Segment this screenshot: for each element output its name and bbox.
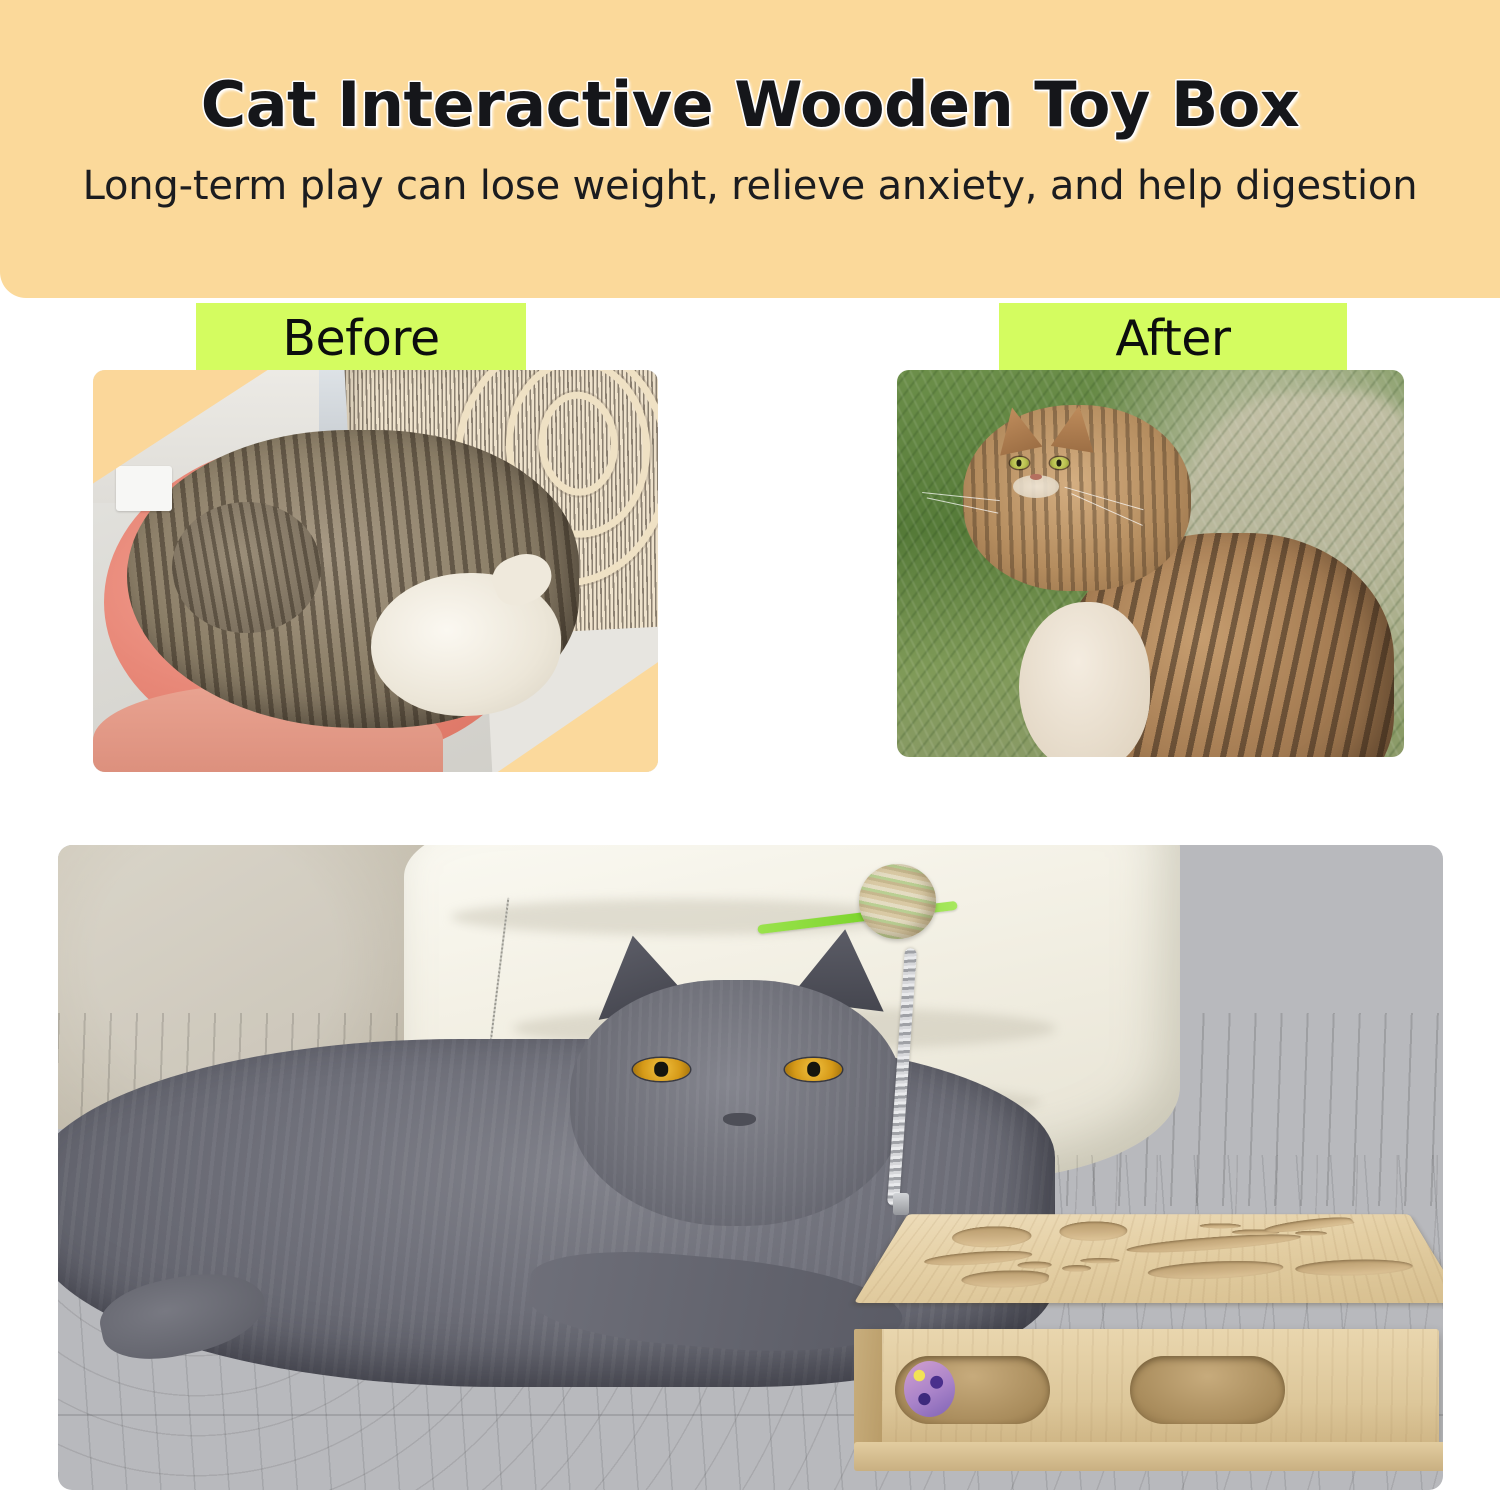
toy-box-front-panel <box>867 1329 1440 1452</box>
toy-box-front-opening <box>1130 1356 1285 1425</box>
toy-box-hole <box>1147 1259 1286 1282</box>
toy-box-side-panel <box>854 1329 881 1452</box>
toy-box-hole <box>948 1226 1035 1247</box>
grey-cat-nose <box>723 1113 756 1126</box>
header-banner: Cat Interactive Wooden Toy Box Long-term… <box>0 0 1500 298</box>
cat-head <box>172 502 321 633</box>
main-product-photo <box>58 845 1443 1490</box>
after-photo-scene <box>897 370 1404 757</box>
toy-box-base-panel <box>854 1442 1443 1471</box>
colorful-play-ball <box>904 1361 956 1417</box>
toy-box-hole <box>1062 1265 1092 1272</box>
overweight-cat-body <box>127 430 579 727</box>
grey-cat-eye-left <box>633 1058 690 1081</box>
toy-box-hole <box>922 1248 1032 1267</box>
cat-whisker <box>1065 486 1144 510</box>
toy-box-top-panel <box>854 1214 1443 1303</box>
cat-ear-right <box>1051 402 1101 453</box>
grey-cat-pupil <box>807 1062 821 1076</box>
sisal-rope-ball <box>859 864 937 938</box>
toy-box-hole <box>1017 1262 1053 1269</box>
before-photo <box>93 370 658 772</box>
cat-head <box>963 405 1191 591</box>
after-label-text: After <box>1115 310 1230 367</box>
after-label-tab: After <box>999 303 1347 373</box>
before-photo-scene <box>93 370 658 772</box>
cat-pupil <box>1057 459 1062 466</box>
toy-box-hole <box>958 1271 1050 1288</box>
grey-cat-pupil <box>654 1062 668 1076</box>
cat-eye-left <box>1010 457 1029 469</box>
before-label-tab: Before <box>196 303 526 373</box>
fabric-tag <box>116 466 173 510</box>
after-photo <box>897 370 1404 757</box>
toy-box-hole <box>1293 1258 1418 1278</box>
toy-box-hole <box>1200 1223 1242 1228</box>
cat-nose <box>1030 474 1041 480</box>
grey-cat-head <box>570 980 902 1225</box>
toy-box-hole <box>1058 1222 1129 1241</box>
grey-cat-eye-right <box>785 1058 842 1081</box>
before-label-text: Before <box>282 310 439 367</box>
cat-eye-right <box>1050 457 1069 469</box>
cat-white-chest <box>1019 602 1151 757</box>
toy-box-hole <box>1126 1231 1304 1257</box>
cat-pupil <box>1017 459 1022 466</box>
wooden-toy-box <box>854 1148 1443 1471</box>
page-title: Cat Interactive Wooden Toy Box <box>201 72 1300 137</box>
main-photo-scene <box>58 845 1443 1490</box>
toy-box-hole <box>1080 1258 1120 1263</box>
page-subtitle: Long-term play can lose weight, relieve … <box>83 163 1418 209</box>
